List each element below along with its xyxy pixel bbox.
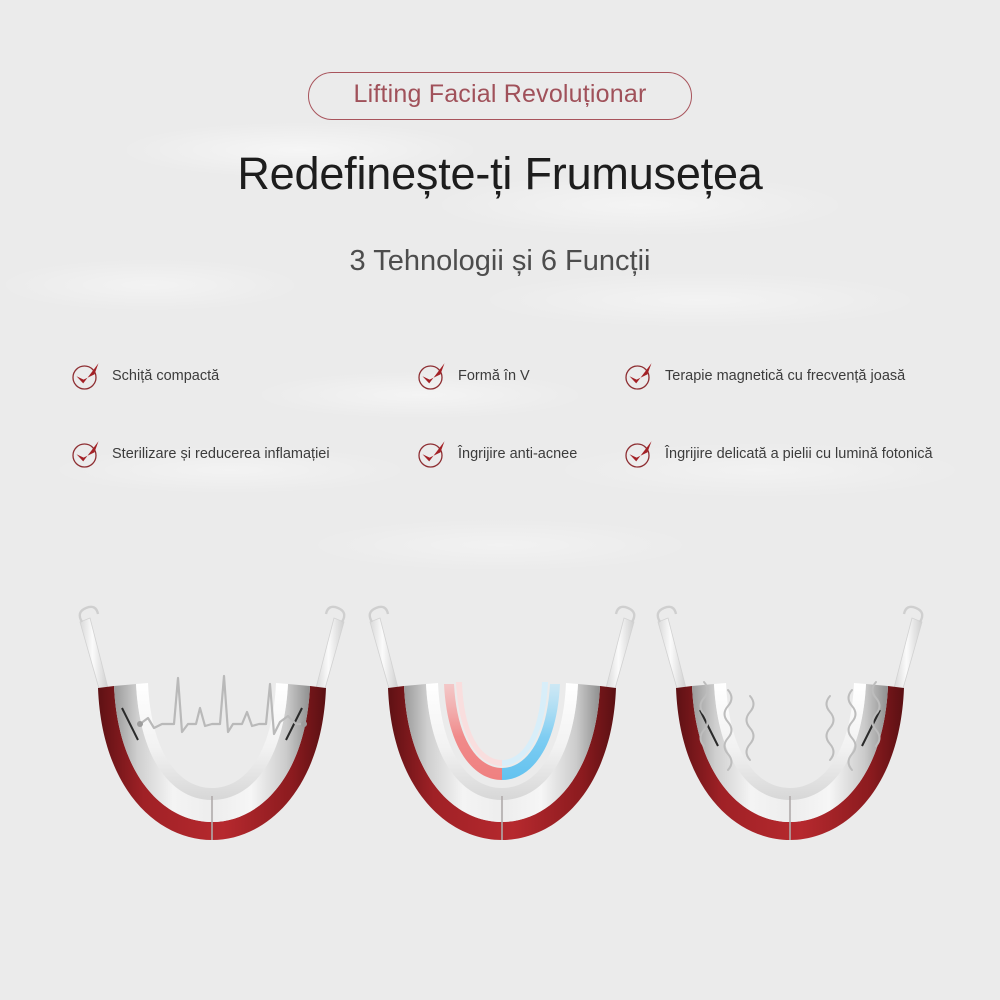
feature-item: Terapie magnetică cu frecvență joasă [623, 360, 905, 392]
check-circle-icon [416, 360, 448, 392]
page-title: Redefinește-ți Frumusețea [0, 148, 1000, 200]
left-strap [80, 607, 108, 692]
right-strap [316, 607, 344, 692]
check-circle-icon [70, 438, 102, 470]
left-strap [658, 607, 686, 692]
right-strap [894, 607, 922, 692]
device-gallery [0, 600, 1000, 870]
feature-label: Formă în V [458, 367, 530, 385]
check-circle-icon [623, 360, 655, 392]
promo-badge: Lifting Facial Revoluționar [308, 72, 691, 120]
promo-page: Lifting Facial Revoluționar Redefinește-… [0, 0, 1000, 1000]
feature-label: Terapie magnetică cu frecvență joasă [665, 367, 905, 385]
feature-item: Schiță compactă [70, 360, 219, 392]
check-circle-icon [416, 438, 448, 470]
check-circle-icon [70, 360, 102, 392]
feature-list: Schiță compactă Formă în V Terapie magne… [0, 360, 1000, 490]
left-strap [370, 607, 398, 692]
right-strap [606, 607, 634, 692]
feature-label: Sterilizare și reducerea inflamației [112, 445, 330, 463]
feature-item: Îngrijire anti-acnee [416, 438, 577, 470]
feature-label: Schiță compactă [112, 367, 219, 385]
feature-item: Îngrijire delicată a pielii cu lumină fo… [623, 438, 933, 470]
v-face-lifting-device-photon [352, 600, 652, 860]
page-subtitle: 3 Tehnologii și 6 Funcții [0, 244, 1000, 279]
feature-label: Îngrijire anti-acnee [458, 445, 577, 463]
feature-item: Sterilizare și reducerea inflamației [70, 438, 330, 470]
v-face-lifting-device-ecg [62, 600, 362, 860]
feature-label: Îngrijire delicată a pielii cu lumină fo… [665, 445, 933, 463]
check-circle-icon [623, 438, 655, 470]
feature-item: Formă în V [416, 360, 530, 392]
v-face-lifting-device-vibration [640, 600, 940, 860]
badge-row: Lifting Facial Revoluționar [0, 72, 1000, 120]
